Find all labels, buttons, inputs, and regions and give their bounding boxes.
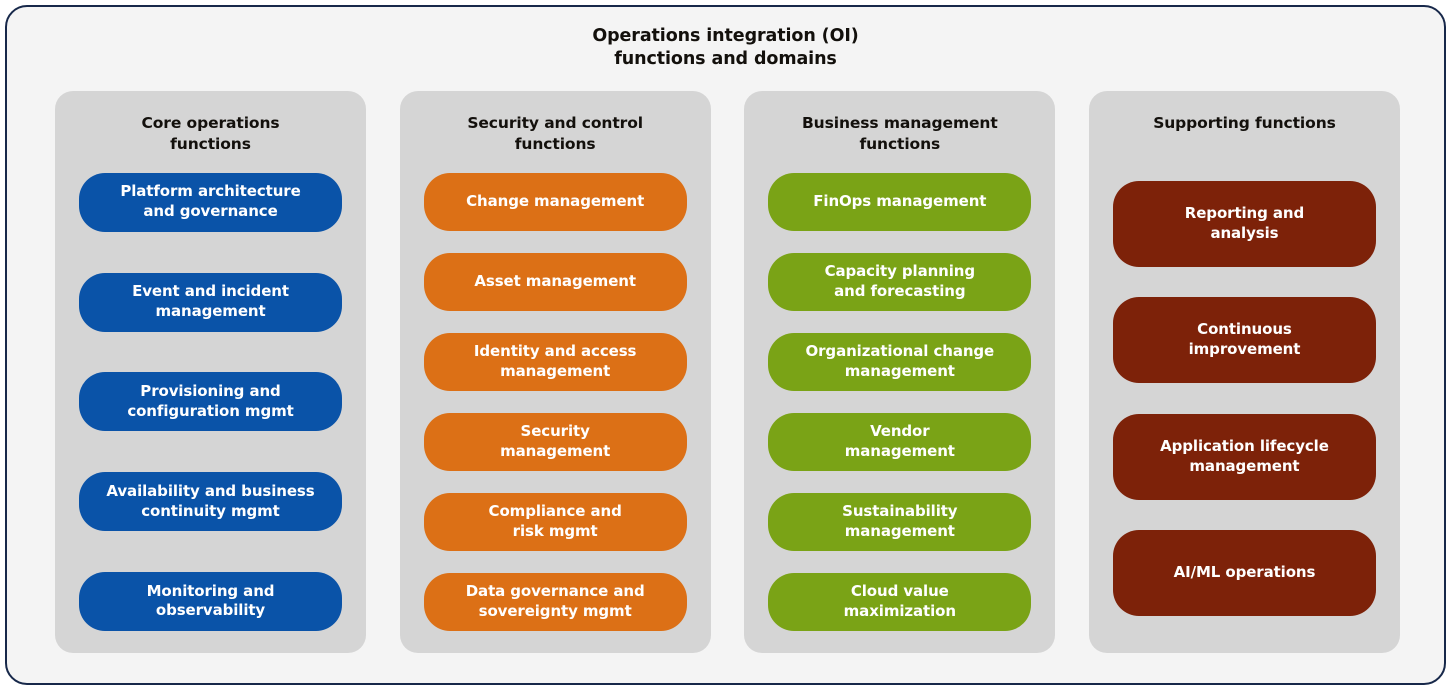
item-data-governance-and-sovereignty-mgmt[interactable]: Data governance and sovereignty mgmt bbox=[424, 573, 687, 631]
column-business-management: Business management functions FinOps man… bbox=[744, 91, 1055, 653]
item-capacity-planning-and-forecasting[interactable]: Capacity planning and forecasting bbox=[768, 253, 1031, 311]
item-event-and-incident-management[interactable]: Event and incident management bbox=[79, 273, 342, 332]
column-title-business-management: Business management functions bbox=[768, 113, 1031, 155]
item-organizational-change-management[interactable]: Organizational change management bbox=[768, 333, 1031, 391]
item-ai-ml-operations[interactable]: AI/ML operations bbox=[1113, 530, 1376, 616]
item-identity-and-access-management[interactable]: Identity and access management bbox=[424, 333, 687, 391]
item-application-lifecycle-management[interactable]: Application lifecycle management bbox=[1113, 414, 1376, 500]
item-list-business-management: FinOps management Capacity planning and … bbox=[768, 161, 1031, 631]
item-security-management[interactable]: Security management bbox=[424, 413, 687, 471]
column-title-security-and-control: Security and control functions bbox=[424, 113, 687, 155]
diagram-card: Operations integration (OI) functions an… bbox=[5, 5, 1446, 685]
item-list-security-and-control: Change management Asset management Ident… bbox=[424, 161, 687, 631]
item-provisioning-and-configuration-mgmt[interactable]: Provisioning and configuration mgmt bbox=[79, 372, 342, 431]
item-list-core-operations: Platform architecture and governance Eve… bbox=[79, 161, 342, 631]
column-container: Core operations functions Platform archi… bbox=[55, 91, 1400, 653]
item-availability-and-business-continuity-mgmt[interactable]: Availability and business continuity mgm… bbox=[79, 472, 342, 531]
item-reporting-and-analysis[interactable]: Reporting and analysis bbox=[1113, 181, 1376, 267]
column-supporting-functions: Supporting functions Reporting and analy… bbox=[1089, 91, 1400, 653]
column-title-supporting-functions: Supporting functions bbox=[1113, 113, 1376, 134]
column-title-core-operations: Core operations functions bbox=[79, 113, 342, 155]
column-security-and-control: Security and control functions Change ma… bbox=[400, 91, 711, 653]
item-cloud-value-maximization[interactable]: Cloud value maximization bbox=[768, 573, 1031, 631]
column-core-operations: Core operations functions Platform archi… bbox=[55, 91, 366, 653]
item-change-management[interactable]: Change management bbox=[424, 173, 687, 231]
item-vendor-management[interactable]: Vendor management bbox=[768, 413, 1031, 471]
item-compliance-and-risk-mgmt[interactable]: Compliance and risk mgmt bbox=[424, 493, 687, 551]
item-asset-management[interactable]: Asset management bbox=[424, 253, 687, 311]
item-continuous-improvement[interactable]: Continuous improvement bbox=[1113, 297, 1376, 383]
item-finops-management[interactable]: FinOps management bbox=[768, 173, 1031, 231]
item-monitoring-and-observability[interactable]: Monitoring and observability bbox=[79, 572, 342, 631]
item-platform-architecture-and-governance[interactable]: Platform architecture and governance bbox=[79, 173, 342, 232]
item-list-supporting-functions: Reporting and analysis Continuous improv… bbox=[1113, 144, 1376, 631]
diagram-title: Operations integration (OI) functions an… bbox=[7, 25, 1444, 72]
item-sustainability-management[interactable]: Sustainability management bbox=[768, 493, 1031, 551]
